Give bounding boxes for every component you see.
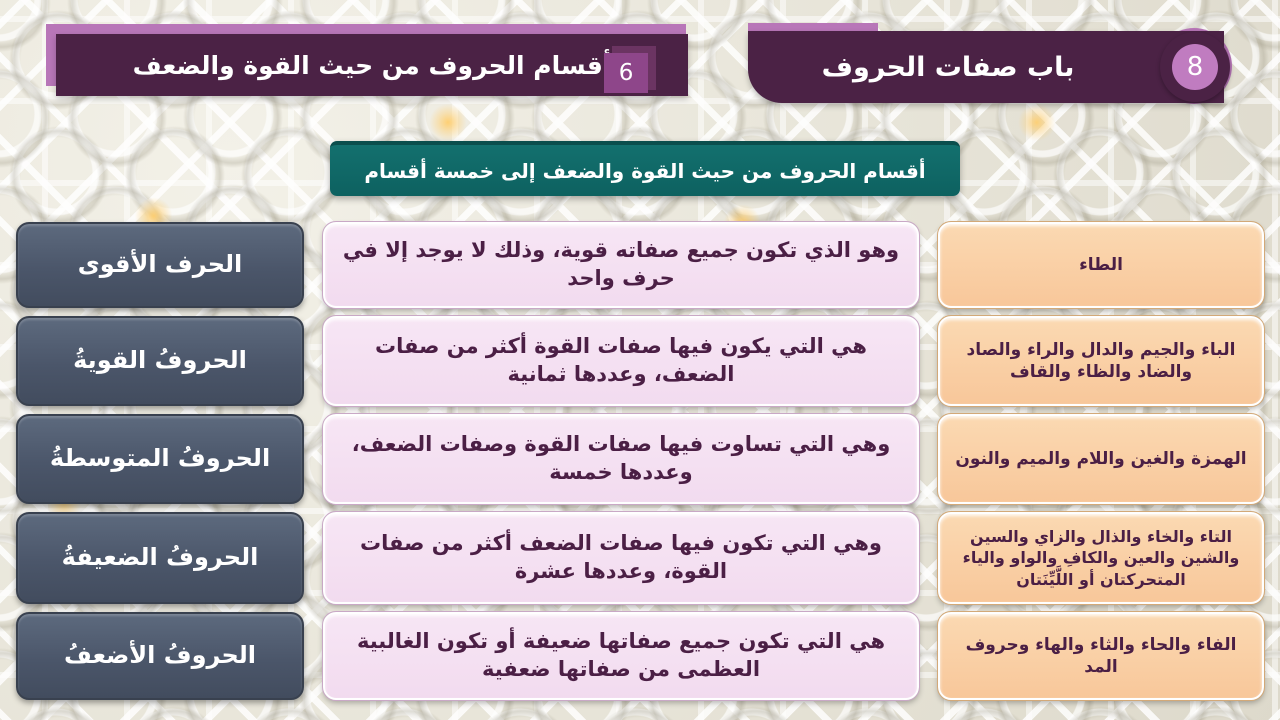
table-row: الطاء وهو الذي تكون جميع صفاته قوية، وذل… <box>0 222 1280 308</box>
section-title: أقسام الحروف من حيث القوة والضعف <box>56 34 688 96</box>
definition-cell: هي التي يكون فيها صفات القوة أكثر من صفا… <box>323 316 919 406</box>
chapter-badge-number: 8 <box>1172 44 1218 90</box>
examples-cell: التاء والخاء والذال والزاي والسين والشين… <box>938 512 1264 604</box>
definition-cell: وهو الذي تكون جميع صفاته قوية، وذلك لا ي… <box>323 222 919 308</box>
category-cell: الحرف الأقوى <box>16 222 304 308</box>
category-cell: الحروفُ المتوسطةُ <box>16 414 304 504</box>
examples-cell: الباء والجيم والدال والراء والصاد والضاد… <box>938 316 1264 406</box>
table-row: الهمزة والغين واللام والميم والنون وهي ا… <box>0 414 1280 504</box>
chapter-badge: 8 <box>1160 32 1230 102</box>
category-cell: الحروفُ الضعيفةُ <box>16 512 304 604</box>
section-badge-number: 6 <box>604 53 648 93</box>
examples-cell: الفاء والحاء والثاء والهاء وحروف المد <box>938 612 1264 700</box>
slide-root: باب صفات الحروف 8 أقسام الحروف من حيث ال… <box>0 0 1280 720</box>
examples-cell: الهمزة والغين واللام والميم والنون <box>938 414 1264 504</box>
definition-cell: وهي التي تكون فيها صفات الضعف أكثر من صف… <box>323 512 919 604</box>
table-row: الفاء والحاء والثاء والهاء وحروف المد هي… <box>0 612 1280 700</box>
subtitle-banner: أقسام الحروف من حيث القوة والضعف إلى خمس… <box>330 141 960 196</box>
page-title: باب صفات الحروف <box>748 31 1148 103</box>
category-cell: الحروفُ القويةُ <box>16 316 304 406</box>
table-row: التاء والخاء والذال والزاي والسين والشين… <box>0 512 1280 604</box>
examples-cell: الطاء <box>938 222 1264 308</box>
table-row: الباء والجيم والدال والراء والصاد والضاد… <box>0 316 1280 406</box>
definition-cell: وهي التي تساوت فيها صفات القوة وصفات الض… <box>323 414 919 504</box>
category-cell: الحروفُ الأضعفُ <box>16 612 304 700</box>
definition-cell: هي التي تكون جميع صفاتها ضعيفة أو تكون ا… <box>323 612 919 700</box>
content-rows: الطاء وهو الذي تكون جميع صفاته قوية، وذل… <box>0 222 1280 708</box>
